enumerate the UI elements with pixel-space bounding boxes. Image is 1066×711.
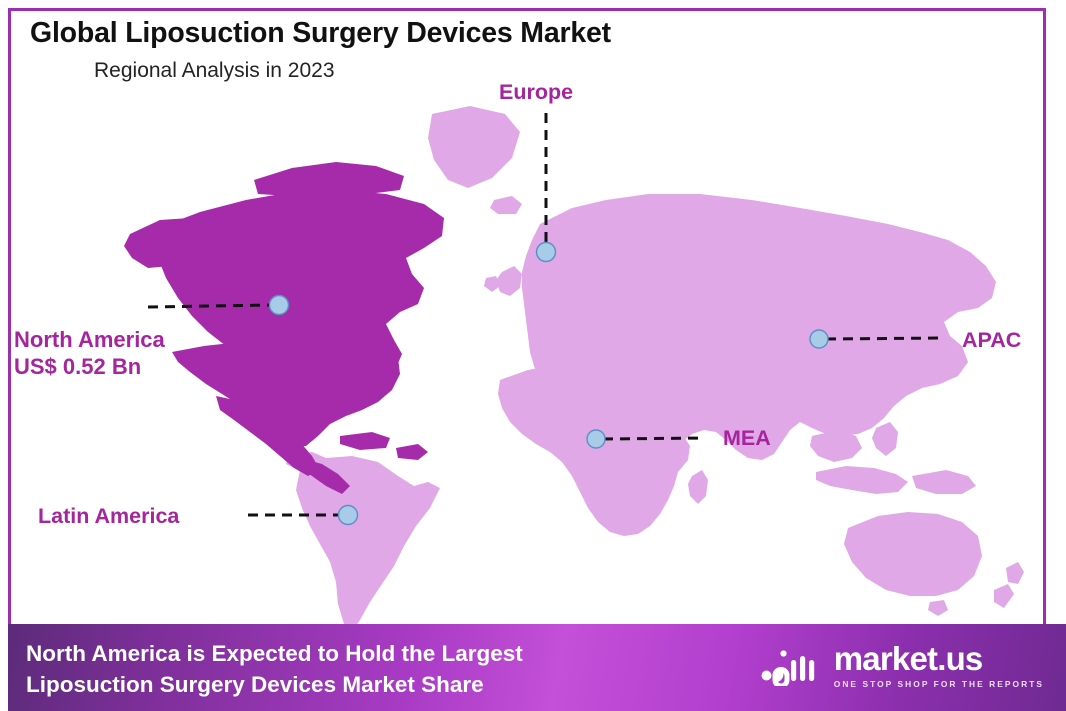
- region-label-north-america[interactable]: North America US$ 0.52 Bn: [14, 327, 165, 381]
- region-hispaniola: [396, 444, 428, 460]
- region-tasmania: [928, 600, 948, 616]
- region-south-america: [296, 456, 440, 624]
- region-southeast-asia: [810, 430, 862, 462]
- region-label-europe[interactable]: Europe: [499, 79, 573, 105]
- page-title: Global Liposuction Surgery Devices Marke…: [30, 17, 611, 50]
- region-arctic-islands: [254, 162, 404, 196]
- region-british-isles: [496, 266, 522, 296]
- region-iceland: [490, 196, 522, 214]
- page-subtitle: Regional Analysis in 2023: [94, 59, 335, 83]
- region-new-zealand-south: [994, 584, 1014, 608]
- region-label-mea[interactable]: MEA: [723, 425, 771, 451]
- bottom-banner: North America is Expected to Hold the La…: [8, 624, 1066, 711]
- region-australia: [844, 512, 982, 596]
- region-label-latin-america[interactable]: Latin America: [38, 503, 179, 529]
- region-cuba: [340, 432, 390, 450]
- logo-wordmark: market.us: [834, 642, 1044, 675]
- logo-text: market.us ONE STOP SHOP FOR THE REPORTS: [834, 642, 1044, 689]
- banner-headline: North America is Expected to Hold the La…: [26, 638, 523, 700]
- region-greenland: [428, 106, 520, 188]
- map-highlighted-region-north-america[interactable]: [124, 162, 444, 494]
- banner-headline-line1: North America is Expected to Hold the La…: [26, 638, 523, 669]
- region-label-north-america-name: North America: [14, 327, 165, 352]
- region-label-apac[interactable]: APAC: [962, 327, 1021, 353]
- region-new-zealand: [1006, 562, 1024, 584]
- region-africa: [498, 360, 690, 536]
- infographic-canvas: Global Liposuction Surgery Devices Marke…: [0, 0, 1066, 711]
- banner-headline-line2: Liposuction Surgery Devices Market Share: [26, 669, 523, 700]
- region-philippines: [872, 422, 898, 456]
- market-us-logo-icon: [761, 646, 823, 686]
- region-label-north-america-value: US$ 0.52 Bn: [14, 354, 165, 381]
- region-indonesia: [816, 466, 908, 494]
- region-madagascar: [688, 470, 708, 504]
- market-us-logo[interactable]: market.us ONE STOP SHOP FOR THE REPORTS: [761, 642, 1044, 689]
- logo-tagline: ONE STOP SHOP FOR THE REPORTS: [834, 679, 1044, 689]
- region-new-guinea: [912, 470, 976, 494]
